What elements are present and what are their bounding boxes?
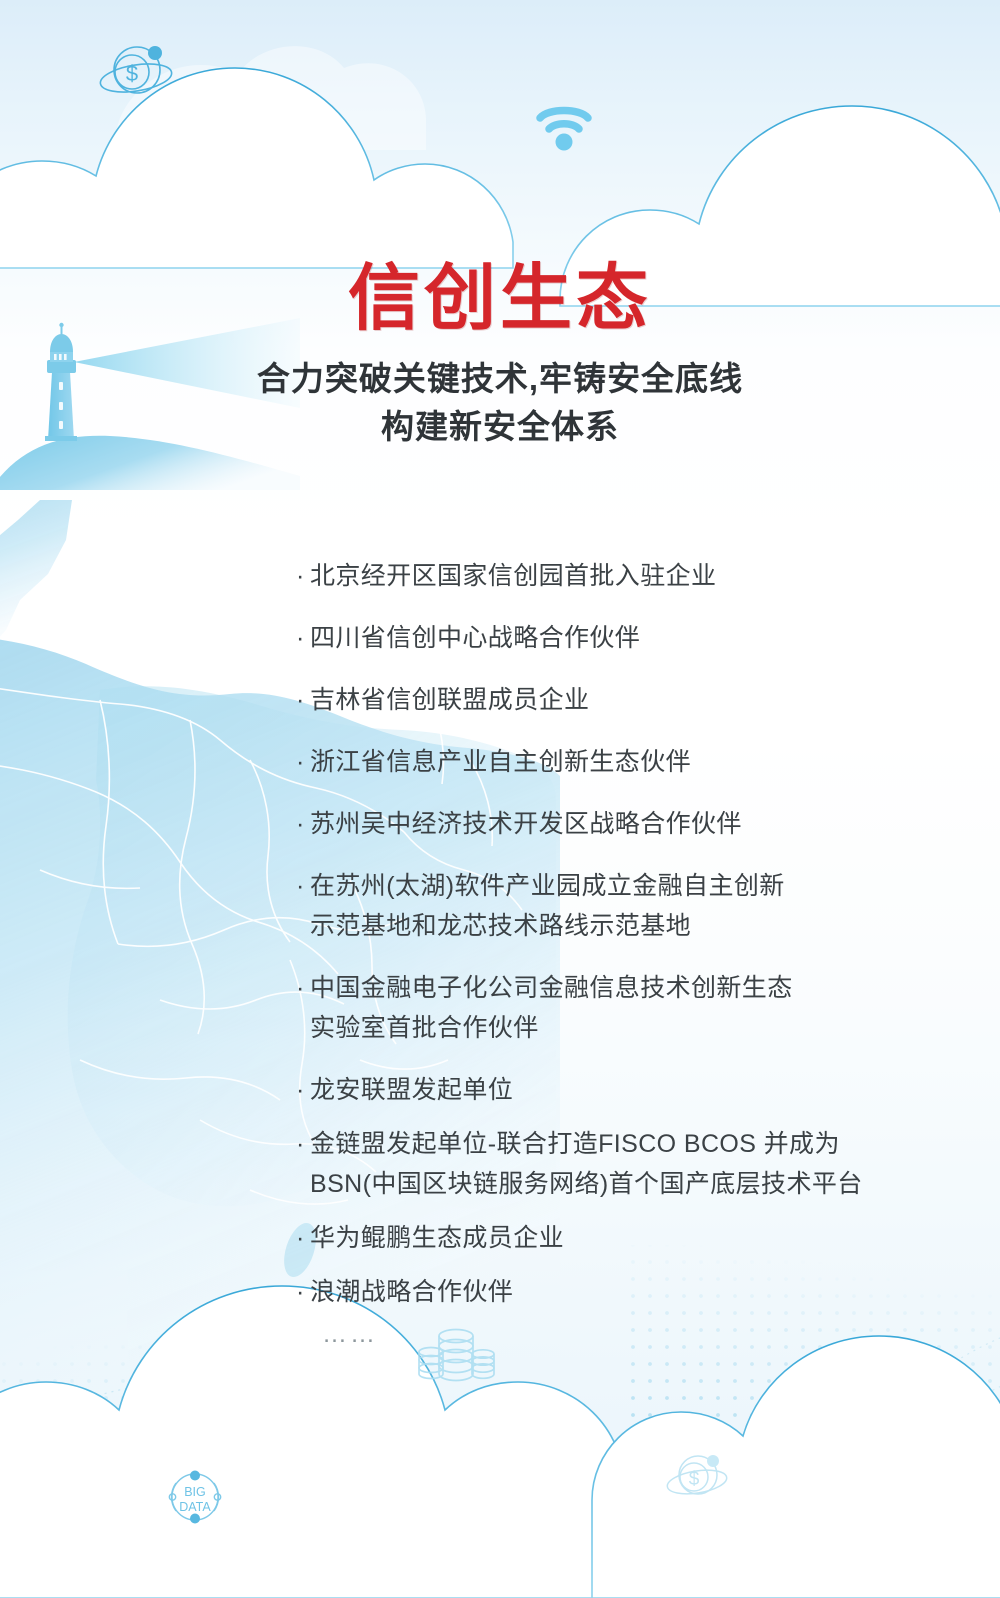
bullet-icon: ·: [296, 680, 310, 720]
list-item-label: 浙江省信息产业自主创新生态伙伴: [310, 742, 691, 782]
bullet-icon: ·: [296, 1272, 310, 1312]
list-ellipsis: ……: [322, 1320, 956, 1349]
list-item: · 苏州吴中经济技术开发区战略合作伙伴: [296, 804, 956, 844]
bullet-icon: ·: [296, 866, 310, 906]
list-item: · 浙江省信息产业自主创新生态伙伴: [296, 742, 956, 782]
list-item: · 北京经开区国家信创园首批入驻企业: [296, 556, 956, 596]
list-item: · 吉林省信创联盟成员企业: [296, 680, 956, 720]
list-item-label: 四川省信创中心战略合作伙伴: [310, 618, 640, 658]
poster-canvas: $: [0, 0, 1000, 1598]
list-item: · 金链盟发起单位-联合打造FISCO BCOS 并成为 BSN(中国区块链服务…: [296, 1124, 956, 1204]
bullet-icon: ·: [296, 968, 310, 1008]
bullet-icon: ·: [296, 618, 310, 658]
dollar-sign: $: [689, 1469, 700, 1490]
list-item-label: 吉林省信创联盟成员企业: [310, 680, 589, 720]
subtitle-line-1: 合力突破关键技术,牢铸安全底线: [0, 355, 1000, 403]
credential-list: · 北京经开区国家信创园首批入驻企业 · 四川省信创中心战略合作伙伴 · 吉林省…: [296, 556, 956, 1349]
list-item-label: 在苏州(太湖)软件产业园成立金融自主创新 示范基地和龙芯技术路线示范基地: [310, 866, 785, 946]
bullet-icon: ·: [296, 556, 310, 596]
big-data-label-line2: DATA: [179, 1500, 211, 1514]
list-item-label: 浪潮战略合作伙伴: [310, 1272, 513, 1312]
list-item: · 中国金融电子化公司金融信息技术创新生态 实验室首批合作伙伴: [296, 968, 956, 1048]
big-data-label-line1: BIG: [184, 1485, 206, 1499]
list-item: · 浪潮战略合作伙伴: [296, 1272, 956, 1312]
list-item: · 华为鲲鹏生态成员企业: [296, 1218, 956, 1258]
list-item-label: 苏州吴中经济技术开发区战略合作伙伴: [310, 804, 742, 844]
list-item-label: 中国金融电子化公司金融信息技术创新生态 实验室首批合作伙伴: [310, 968, 793, 1048]
list-item: · 在苏州(太湖)软件产业园成立金融自主创新 示范基地和龙芯技术路线示范基地: [296, 866, 956, 946]
coin-orbit-icon: $: [660, 1446, 736, 1510]
list-item-label: 北京经开区国家信创园首批入驻企业: [310, 556, 716, 596]
bullet-icon: ·: [296, 742, 310, 782]
headline-block: 信创生态 合力突破关键技术,牢铸安全底线 构建新安全体系: [0, 262, 1000, 451]
bullet-icon: ·: [296, 1070, 310, 1110]
wifi-icon: [528, 96, 600, 154]
bullet-icon: ·: [296, 1218, 310, 1258]
page-subtitle: 合力突破关键技术,牢铸安全底线 构建新安全体系: [0, 355, 1000, 451]
list-item-label: 金链盟发起单位-联合打造FISCO BCOS 并成为 BSN(中国区块链服务网络…: [310, 1124, 863, 1204]
coin-orbit-icon: $: [92, 34, 182, 112]
list-item: · 四川省信创中心战略合作伙伴: [296, 618, 956, 658]
subtitle-line-2: 构建新安全体系: [0, 403, 1000, 451]
dollar-sign: $: [126, 61, 138, 86]
page-title: 信创生态: [0, 262, 1000, 337]
list-item-label: 华为鲲鹏生态成员企业: [310, 1218, 564, 1258]
big-data-icon: BIG DATA: [160, 1462, 230, 1532]
list-item: · 龙安联盟发起单位: [296, 1070, 956, 1110]
bullet-icon: ·: [296, 804, 310, 844]
list-item-label: 龙安联盟发起单位: [310, 1070, 513, 1110]
bullet-icon: ·: [296, 1124, 310, 1164]
